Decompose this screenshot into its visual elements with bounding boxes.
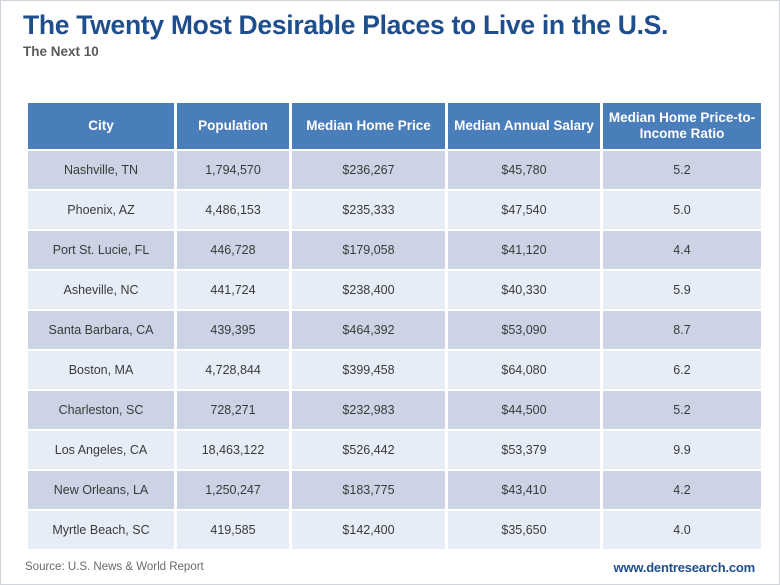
cell-city: Nashville, TN: [28, 151, 174, 189]
cell-median-annual-salary: $53,379: [448, 431, 600, 469]
cell-median-annual-salary: $35,650: [448, 511, 600, 549]
column-header-price-to-income-ratio[interactable]: Median Home Price-to-Income Ratio: [603, 103, 761, 149]
desirable-places-table: City Population Median Home Price Median…: [25, 101, 764, 551]
cell-median-home-price: $236,267: [292, 151, 445, 189]
page-title: The Twenty Most Desirable Places to Live…: [23, 11, 779, 40]
cell-median-annual-salary: $53,090: [448, 311, 600, 349]
cell-city: Santa Barbara, CA: [28, 311, 174, 349]
website-link[interactable]: www.dentresearch.com: [614, 560, 755, 575]
header-block: The Twenty Most Desirable Places to Live…: [1, 1, 779, 60]
cell-city: Myrtle Beach, SC: [28, 511, 174, 549]
cell-median-home-price: $238,400: [292, 271, 445, 309]
source-attribution: Source: U.S. News & World Report: [25, 561, 204, 573]
table-row: Los Angeles, CA 18,463,122 $526,442 $53,…: [28, 431, 761, 469]
cell-median-annual-salary: $64,080: [448, 351, 600, 389]
cell-population: 1,250,247: [177, 471, 289, 509]
cell-median-annual-salary: $47,540: [448, 191, 600, 229]
cell-price-to-income-ratio: 4.4: [603, 231, 761, 269]
cell-median-annual-salary: $41,120: [448, 231, 600, 269]
cell-city: Charleston, SC: [28, 391, 174, 429]
cell-price-to-income-ratio: 9.9: [603, 431, 761, 469]
cell-population: 4,486,153: [177, 191, 289, 229]
cell-median-annual-salary: $45,780: [448, 151, 600, 189]
cell-price-to-income-ratio: 5.9: [603, 271, 761, 309]
cell-city: Asheville, NC: [28, 271, 174, 309]
cell-population: 4,728,844: [177, 351, 289, 389]
table-header-row: City Population Median Home Price Median…: [28, 103, 761, 149]
cell-city: New Orleans, LA: [28, 471, 174, 509]
cell-price-to-income-ratio: 6.2: [603, 351, 761, 389]
column-header-population[interactable]: Population: [177, 103, 289, 149]
table-row: Myrtle Beach, SC 419,585 $142,400 $35,65…: [28, 511, 761, 549]
footer: Source: U.S. News & World Report www.den…: [1, 550, 779, 584]
cell-price-to-income-ratio: 5.2: [603, 391, 761, 429]
cell-median-home-price: $235,333: [292, 191, 445, 229]
table-row: New Orleans, LA 1,250,247 $183,775 $43,4…: [28, 471, 761, 509]
cell-median-annual-salary: $44,500: [448, 391, 600, 429]
cell-population: 439,395: [177, 311, 289, 349]
cell-price-to-income-ratio: 4.0: [603, 511, 761, 549]
table-row: Boston, MA 4,728,844 $399,458 $64,080 6.…: [28, 351, 761, 389]
table-header: City Population Median Home Price Median…: [28, 103, 761, 149]
cell-median-home-price: $399,458: [292, 351, 445, 389]
cell-median-home-price: $526,442: [292, 431, 445, 469]
cell-population: 1,794,570: [177, 151, 289, 189]
column-header-median-annual-salary[interactable]: Median Annual Salary: [448, 103, 600, 149]
infographic-page: The Twenty Most Desirable Places to Live…: [0, 0, 780, 585]
table-row: Nashville, TN 1,794,570 $236,267 $45,780…: [28, 151, 761, 189]
data-table-container: City Population Median Home Price Median…: [25, 101, 755, 551]
cell-population: 18,463,122: [177, 431, 289, 469]
cell-population: 446,728: [177, 231, 289, 269]
cell-population: 728,271: [177, 391, 289, 429]
cell-price-to-income-ratio: 5.2: [603, 151, 761, 189]
cell-price-to-income-ratio: 4.2: [603, 471, 761, 509]
cell-city: Port St. Lucie, FL: [28, 231, 174, 269]
cell-median-home-price: $232,983: [292, 391, 445, 429]
cell-city: Los Angeles, CA: [28, 431, 174, 469]
table-row: Santa Barbara, CA 439,395 $464,392 $53,0…: [28, 311, 761, 349]
page-subtitle: The Next 10: [23, 45, 779, 60]
cell-price-to-income-ratio: 8.7: [603, 311, 761, 349]
table-row: Phoenix, AZ 4,486,153 $235,333 $47,540 5…: [28, 191, 761, 229]
cell-median-home-price: $179,058: [292, 231, 445, 269]
cell-price-to-income-ratio: 5.0: [603, 191, 761, 229]
table-row: Port St. Lucie, FL 446,728 $179,058 $41,…: [28, 231, 761, 269]
table-row: Charleston, SC 728,271 $232,983 $44,500 …: [28, 391, 761, 429]
cell-median-home-price: $464,392: [292, 311, 445, 349]
cell-city: Phoenix, AZ: [28, 191, 174, 229]
cell-population: 441,724: [177, 271, 289, 309]
cell-population: 419,585: [177, 511, 289, 549]
cell-median-annual-salary: $40,330: [448, 271, 600, 309]
table-body: Nashville, TN 1,794,570 $236,267 $45,780…: [28, 151, 761, 549]
column-header-median-home-price[interactable]: Median Home Price: [292, 103, 445, 149]
table-row: Asheville, NC 441,724 $238,400 $40,330 5…: [28, 271, 761, 309]
cell-city: Boston, MA: [28, 351, 174, 389]
column-header-city[interactable]: City: [28, 103, 174, 149]
cell-median-annual-salary: $43,410: [448, 471, 600, 509]
cell-median-home-price: $142,400: [292, 511, 445, 549]
cell-median-home-price: $183,775: [292, 471, 445, 509]
